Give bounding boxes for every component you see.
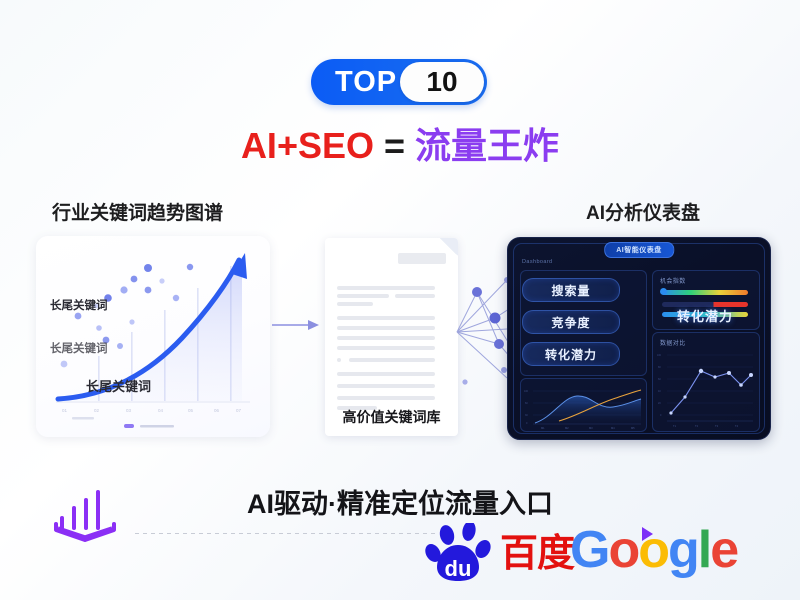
- gradient-bar-1-handle: [660, 288, 667, 295]
- flow-arrow-icon: [272, 318, 320, 332]
- google-letter-o1: o: [608, 524, 638, 576]
- svg-text:T4: T4: [735, 424, 739, 428]
- headline-left: AI+SEO: [241, 125, 374, 166]
- google-letter-g1: G: [570, 524, 608, 576]
- keyword-label-2: 长尾关键词: [50, 340, 108, 356]
- google-letter-g2: g: [668, 524, 698, 576]
- svg-text:02: 02: [94, 408, 100, 413]
- metric-pill-competition[interactable]: 竞争度: [522, 310, 620, 334]
- svg-text:T2: T2: [695, 424, 699, 428]
- svg-text:01: 01: [62, 408, 68, 413]
- metric-pill-conversion[interactable]: 转化潜力: [522, 342, 620, 366]
- svg-text:30: 30: [525, 414, 528, 417]
- svg-text:80: 80: [658, 366, 661, 369]
- baidu-logo-text: 百度: [500, 535, 574, 573]
- slide-canvas: TOP 10 AI+SEO=流量王炸 行业关键词趋势图谱 AI分析仪表盘: [0, 0, 800, 600]
- top-rank-badge: TOP 10: [311, 59, 487, 105]
- growth-chart-icon: [48, 484, 122, 546]
- comparison-line-chart: T1T2 T3T4 1008060 40200: [653, 333, 759, 431]
- svg-text:M5: M5: [631, 426, 635, 430]
- svg-text:T1: T1: [673, 424, 677, 428]
- doc-header-chip: [398, 253, 446, 264]
- svg-text:05: 05: [188, 408, 194, 413]
- svg-text:04: 04: [158, 408, 164, 413]
- keyword-trend-card: 0102 0304 0506 07 长尾关键词 长尾关键词 长尾关键词: [36, 236, 270, 437]
- svg-text:T3: T3: [715, 424, 719, 428]
- ai-dashboard-card: AI智能仪表盘 Dashboard 搜索量 竞争度 转化潜力: [507, 237, 771, 440]
- top-badge-number: 10: [426, 68, 457, 96]
- svg-text:40: 40: [658, 390, 661, 393]
- section-title-right: AI分析仪表盘: [586, 198, 700, 225]
- page-title: AI+SEO=流量王炸: [0, 128, 800, 164]
- svg-text:0: 0: [526, 422, 528, 425]
- conversion-overlay-text: 转化潜力: [652, 306, 758, 325]
- top-badge-word: TOP: [335, 68, 397, 97]
- headline-equals: =: [384, 125, 405, 166]
- svg-text:100: 100: [524, 390, 529, 393]
- svg-text:M4: M4: [611, 426, 615, 430]
- keyword-trend-chart: 0102 0304 0506 07: [36, 236, 270, 437]
- svg-text:07: 07: [236, 408, 242, 413]
- trend-area-panel: M1M2M3 M4M5 10060300: [520, 378, 647, 432]
- svg-text:60: 60: [525, 402, 528, 405]
- baidu-du-text: du: [445, 556, 472, 581]
- opportunity-panel-title: 机会指数: [660, 276, 686, 285]
- google-logo: Google: [570, 524, 737, 576]
- svg-text:M2: M2: [565, 426, 569, 430]
- dashboard-title-badge: AI智能仪表盘: [604, 242, 674, 258]
- dashboard-subtitle: Dashboard: [522, 259, 553, 265]
- google-letter-l: l: [698, 524, 710, 576]
- svg-text:20: 20: [658, 402, 661, 405]
- footer-divider: [135, 533, 435, 534]
- section-title-left: 行业关键词趋势图谱: [52, 198, 223, 225]
- top-badge-circle: 10: [400, 62, 484, 102]
- comparison-panel-title: 数据对比: [660, 338, 686, 347]
- svg-text:0: 0: [660, 414, 662, 417]
- headline-right: 流量王炸: [415, 125, 559, 166]
- keyword-label-3: 长尾关键词: [86, 376, 151, 395]
- svg-text:M1: M1: [541, 426, 545, 430]
- svg-text:60: 60: [658, 378, 661, 381]
- keyword-label-1: 长尾关键词: [50, 297, 108, 313]
- google-letter-e: e: [710, 524, 737, 576]
- google-letter-o2: o: [638, 524, 668, 576]
- svg-text:100: 100: [657, 354, 662, 357]
- gradient-bar-1: [662, 290, 748, 295]
- doc-caption: 高价值关键词库: [325, 407, 458, 427]
- svg-text:06: 06: [214, 408, 220, 413]
- svg-text:03: 03: [126, 408, 132, 413]
- svg-text:M3: M3: [589, 426, 593, 430]
- keyword-library-card: 高价值关键词库: [325, 238, 458, 436]
- trend-area-chart: M1M2M3 M4M5 10060300: [521, 379, 646, 431]
- metric-pill-search-volume[interactable]: 搜索量: [522, 278, 620, 302]
- comparison-panel: T1T2 T3T4 1008060 40200: [652, 332, 760, 432]
